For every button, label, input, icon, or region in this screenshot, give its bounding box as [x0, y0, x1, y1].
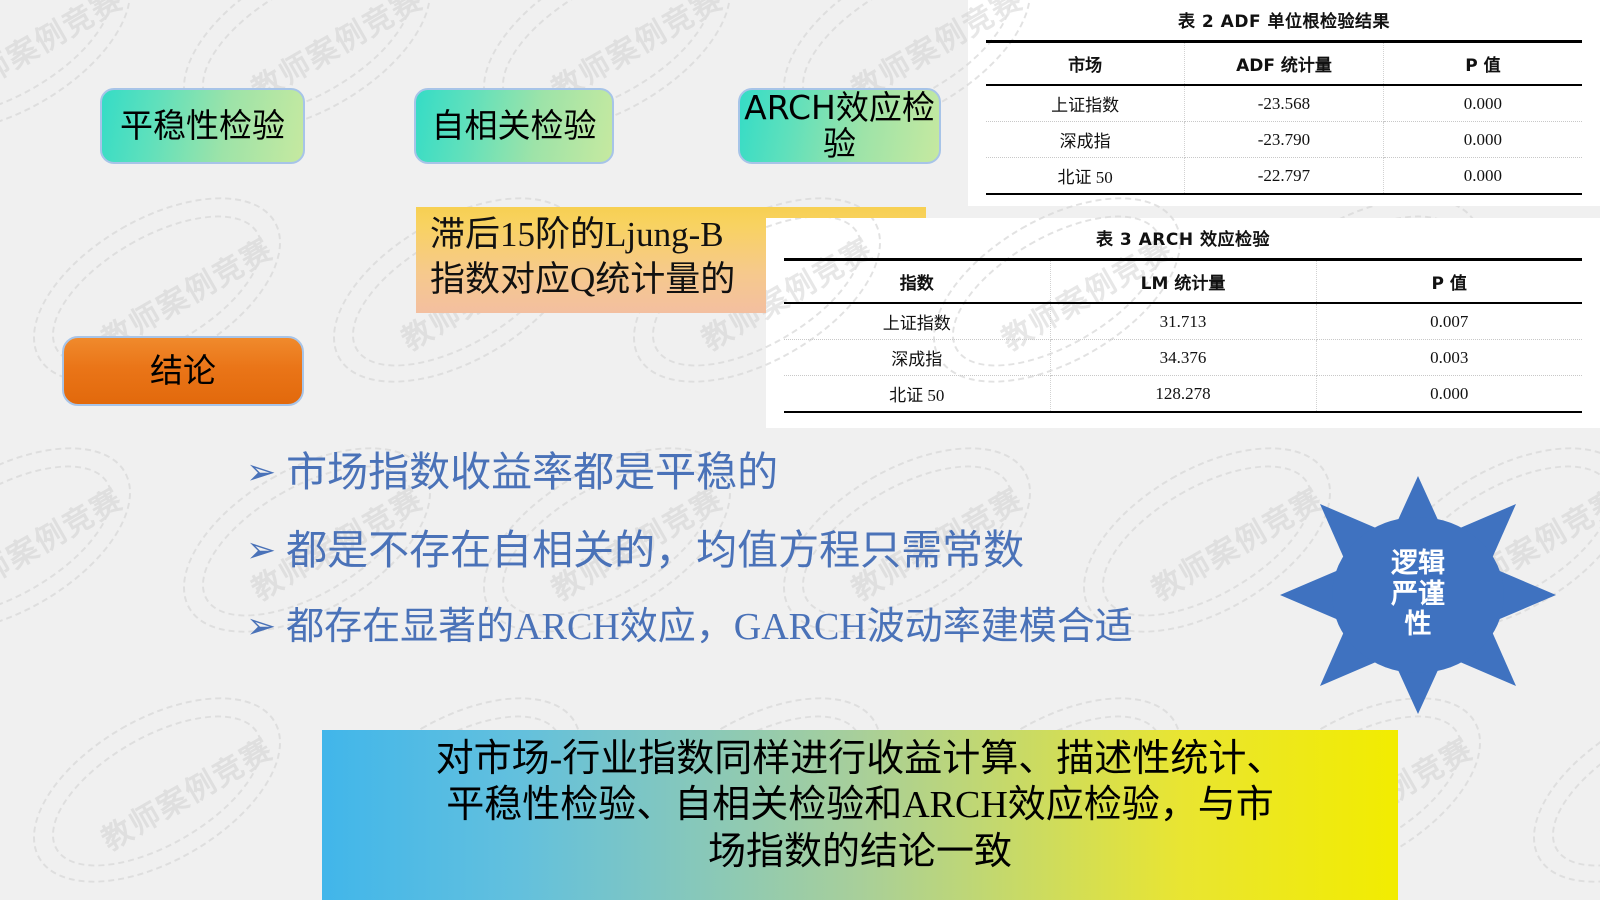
table-title: 表 3 ARCH 效应检验: [766, 218, 1600, 258]
table-row: 上证指数 31.713 0.007: [784, 303, 1582, 340]
cell-pvalue: 0.000: [1383, 85, 1582, 122]
cell-pvalue: 0.003: [1316, 340, 1582, 376]
list-item: ➢ 都是不存在自相关的，均值方程只需常数: [246, 530, 1133, 571]
cell-market: 深成指: [986, 122, 1185, 158]
chip-label: 平稳性检验: [120, 108, 285, 144]
cell-pvalue: 0.000: [1316, 376, 1582, 413]
table-title: 表 2 ADF 单位根检验结果: [968, 0, 1600, 40]
summary-band: 对市场-行业指数同样进行收益计算、描述性统计、 平稳性检验、自相关检验和ARCH…: [322, 730, 1398, 900]
chip-stationarity-test[interactable]: 平稳性检验: [100, 88, 305, 164]
adf-unit-root-table: 市场 ADF 统计量 P 值 上证指数 -23.568 0.000 深成指 -2…: [986, 40, 1582, 195]
summary-line-2: 平稳性检验、自相关检验和ARCH效应检验，与市: [330, 782, 1390, 828]
watermark-ellipse: [0, 659, 12, 900]
bullet-arrow-icon: ➢: [246, 455, 276, 491]
chip-label: 结论: [150, 353, 216, 389]
slide-canvas: 教师案例竞赛教师案例竞赛教师案例竞赛教师案例竞赛教师案例竞赛教师案例竞赛教师案例…: [0, 0, 1600, 900]
watermark-ellipse: [0, 409, 162, 671]
table-row: 北证 50 -22.797 0.000: [986, 158, 1582, 195]
column-header: P 值: [1316, 260, 1582, 304]
chip-arch-effect-test[interactable]: ARCH效应检验: [738, 88, 941, 164]
rigor-starburst-badge[interactable]: 逻辑 严谨 性: [1272, 468, 1564, 722]
bullet-arrow-icon: ➢: [246, 533, 276, 569]
bullet-text: 都是不存在自相关的，均值方程只需常数: [286, 530, 1024, 571]
cell-stat: 128.278: [1050, 376, 1316, 413]
conclusion-bullet-list: ➢ 市场指数收益率都是平稳的 ➢ 都是不存在自相关的，均值方程只需常数 ➢ 都存…: [246, 452, 1133, 646]
bullet-arrow-icon: ➢: [246, 609, 276, 645]
cell-market: 北证 50: [986, 158, 1185, 195]
cell-index: 上证指数: [784, 303, 1050, 340]
watermark-text: 教师案例竞赛: [1592, 725, 1600, 859]
arch-effect-table: 指数 LM 统计量 P 值 上证指数 31.713 0.007 深成指 34.3…: [784, 258, 1582, 413]
cell-stat: -23.790: [1185, 122, 1384, 158]
cell-index: 北证 50: [784, 376, 1050, 413]
watermark-text: 教师案例竞赛: [92, 725, 280, 859]
cell-stat: -23.568: [1185, 85, 1384, 122]
column-header: ADF 统计量: [1185, 42, 1384, 86]
cell-pvalue: 0.007: [1316, 303, 1582, 340]
table-header-row: 市场 ADF 统计量 P 值: [986, 42, 1582, 86]
table-header-row: 指数 LM 统计量 P 值: [784, 260, 1582, 304]
watermark-text: 教师案例竞赛: [0, 475, 130, 609]
column-header: P 值: [1383, 42, 1582, 86]
list-item: ➢ 市场指数收益率都是平稳的: [246, 452, 1133, 493]
cell-stat: 34.376: [1050, 340, 1316, 376]
cell-stat: 31.713: [1050, 303, 1316, 340]
column-header: 指数: [784, 260, 1050, 304]
cell-pvalue: 0.000: [1383, 122, 1582, 158]
adf-unit-root-table-panel: 教师案例竞赛教师案例竞赛教师案例竞赛教师案例竞赛教师案例竞赛教师案例竞赛教师案例…: [968, 0, 1600, 206]
bullet-text: 市场指数收益率都是平稳的: [286, 452, 778, 493]
arch-effect-table-panel: 教师案例竞赛教师案例竞赛教师案例竞赛教师案例竞赛教师案例竞赛教师案例竞赛教师案例…: [766, 218, 1600, 428]
table-row: 深成指 34.376 0.003: [784, 340, 1582, 376]
table-row: 深成指 -23.790 0.000: [986, 122, 1582, 158]
column-header: 市场: [986, 42, 1185, 86]
list-item: ➢ 都存在显著的ARCH效应，GARCH波动率建模合适: [246, 608, 1133, 646]
table-row: 北证 50 128.278 0.000: [784, 376, 1582, 413]
cell-market: 上证指数: [986, 85, 1185, 122]
starburst-icon: [1272, 468, 1564, 722]
summary-line-1: 对市场-行业指数同样进行收益计算、描述性统计、: [330, 736, 1390, 782]
watermark-ellipse: [0, 159, 12, 421]
bullet-text: 都存在显著的ARCH效应，GARCH波动率建模合适: [286, 608, 1133, 646]
chip-label: 自相关检验: [432, 108, 597, 144]
watermark-ellipse: [2, 659, 311, 900]
chip-conclusion[interactable]: 结论: [62, 336, 304, 406]
summary-line-3: 场指数的结论一致: [330, 829, 1390, 875]
watermark-ellipse: [28, 685, 286, 897]
watermark-ellipse: [0, 435, 136, 647]
column-header: LM 统计量: [1050, 260, 1316, 304]
table-row: 上证指数 -23.568 0.000: [986, 85, 1582, 122]
cell-pvalue: 0.000: [1383, 158, 1582, 195]
chip-autocorrelation-test[interactable]: 自相关检验: [414, 88, 614, 164]
chip-label: ARCH效应检验: [740, 90, 939, 161]
cell-index: 深成指: [784, 340, 1050, 376]
cell-stat: -22.797: [1185, 158, 1384, 195]
